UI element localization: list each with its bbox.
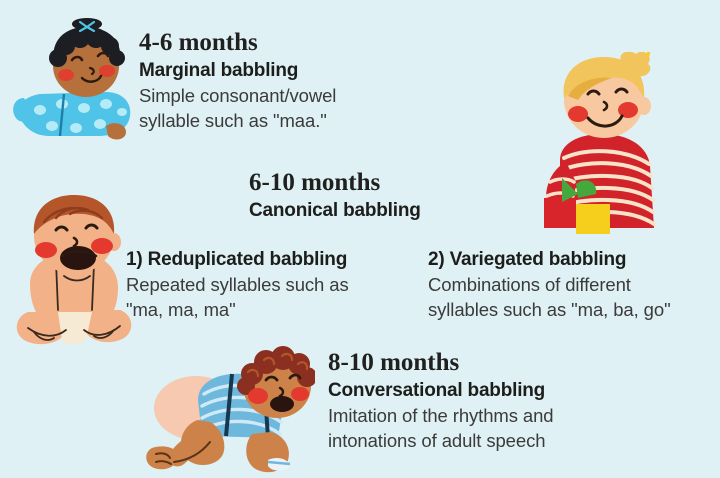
reduplicated-description: Repeated syllables such as "ma, ma, ma" <box>126 272 349 322</box>
variegated-description-line-1: Combinations of different <box>428 272 671 297</box>
reduplicated-description-line-1: Repeated syllables such as <box>126 272 349 297</box>
variegated-description-line-2: syllables such as "ma, ba, go" <box>428 297 671 322</box>
canonical-subheading: Canonical babbling <box>249 198 421 223</box>
section-conversational-babbling: 8-10 months Conversational babbling Imit… <box>328 348 553 453</box>
conversational-description: Imitation of the rhythms and intonations… <box>328 403 553 453</box>
conversational-months-heading: 8-10 months <box>328 348 553 378</box>
marginal-description-line-1: Simple consonant/vowel <box>139 83 336 108</box>
reduplicated-subheading: 1) Reduplicated babbling <box>126 247 349 272</box>
reduplicated-description-line-2: "ma, ma, ma" <box>126 297 349 322</box>
variegated-subheading: 2) Variegated babbling <box>428 247 671 272</box>
section-variegated-babbling: 2) Variegated babbling Combinations of d… <box>428 247 671 322</box>
marginal-subheading: Marginal babbling <box>139 58 336 83</box>
infographic-canvas: 4-6 months Marginal babbling Simple cons… <box>0 0 720 478</box>
conversational-description-line-2: intonations of adult speech <box>328 428 553 453</box>
conversational-description-line-1: Imitation of the rhythms and <box>328 403 553 428</box>
marginal-description-line-2: syllable such as "maa." <box>139 108 336 133</box>
baby-sitting-open-mouth-illustration <box>8 192 138 357</box>
marginal-months-heading: 4-6 months <box>139 28 336 58</box>
section-canonical-babbling: 6-10 months Canonical babbling <box>249 168 421 223</box>
canonical-months-heading: 6-10 months <box>249 168 421 198</box>
baby-lying-on-tummy-illustration <box>10 18 145 148</box>
conversational-subheading: Conversational babbling <box>328 378 553 403</box>
toddler-playing-with-blocks-illustration <box>516 52 676 242</box>
baby-crawling-illustration <box>140 344 315 476</box>
section-reduplicated-babbling: 1) Reduplicated babbling Repeated syllab… <box>126 247 349 322</box>
variegated-description: Combinations of different syllables such… <box>428 272 671 322</box>
marginal-description: Simple consonant/vowel syllable such as … <box>139 83 336 133</box>
section-marginal-babbling: 4-6 months Marginal babbling Simple cons… <box>139 28 336 133</box>
